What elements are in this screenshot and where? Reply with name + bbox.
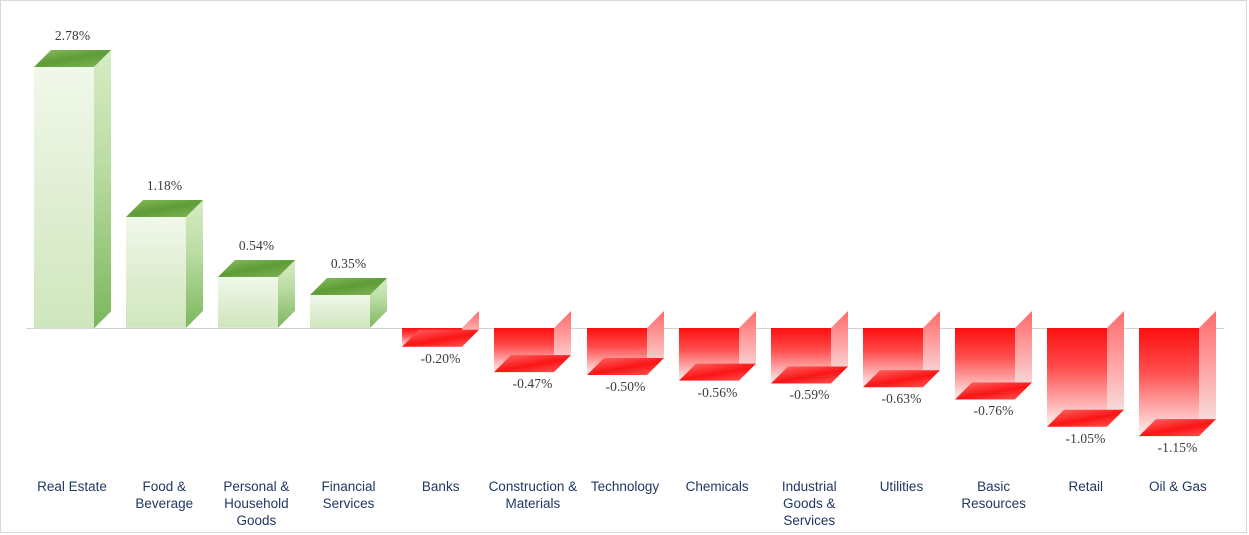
bar-value-label: -0.20% <box>381 351 501 367</box>
bar-column[interactable] <box>679 311 758 383</box>
chart-frame: 2.78%1.18%0.54%0.35%-0.20%-0.47%-0.50%-0… <box>0 0 1247 533</box>
bar-column[interactable] <box>310 278 389 330</box>
bar-column[interactable] <box>1139 311 1218 438</box>
category-label: Oil & Gas <box>1112 478 1244 495</box>
bar-face-front <box>310 295 370 328</box>
bar-column[interactable] <box>771 311 850 385</box>
bar-value-label: 2.78% <box>13 28 133 44</box>
bar-face-side <box>1199 311 1216 436</box>
bar-face-side <box>186 200 203 328</box>
bar-value-label: -1.15% <box>1118 440 1238 456</box>
bar-face-front <box>126 217 186 328</box>
plot-area: 2.78%1.18%0.54%0.35%-0.20%-0.47%-0.50%-0… <box>1 1 1248 534</box>
bar-column[interactable] <box>34 50 113 330</box>
bar-column[interactable] <box>126 200 205 330</box>
bar-face-front <box>218 277 278 328</box>
bar-value-label: 0.35% <box>289 256 409 272</box>
bar-column[interactable] <box>955 311 1034 401</box>
bar-value-label: 0.54% <box>197 238 317 254</box>
bar-face-side <box>1107 311 1124 427</box>
bar-column[interactable] <box>863 311 942 389</box>
bar-face-front <box>34 67 94 328</box>
bar-column[interactable] <box>218 260 297 330</box>
bar-column[interactable] <box>402 311 481 349</box>
bar-column[interactable] <box>494 311 573 374</box>
bar-value-label: 1.18% <box>105 178 225 194</box>
bar-column[interactable] <box>1047 311 1126 429</box>
bar-value-label: -0.76% <box>934 403 1054 419</box>
bar-column[interactable] <box>587 311 666 377</box>
